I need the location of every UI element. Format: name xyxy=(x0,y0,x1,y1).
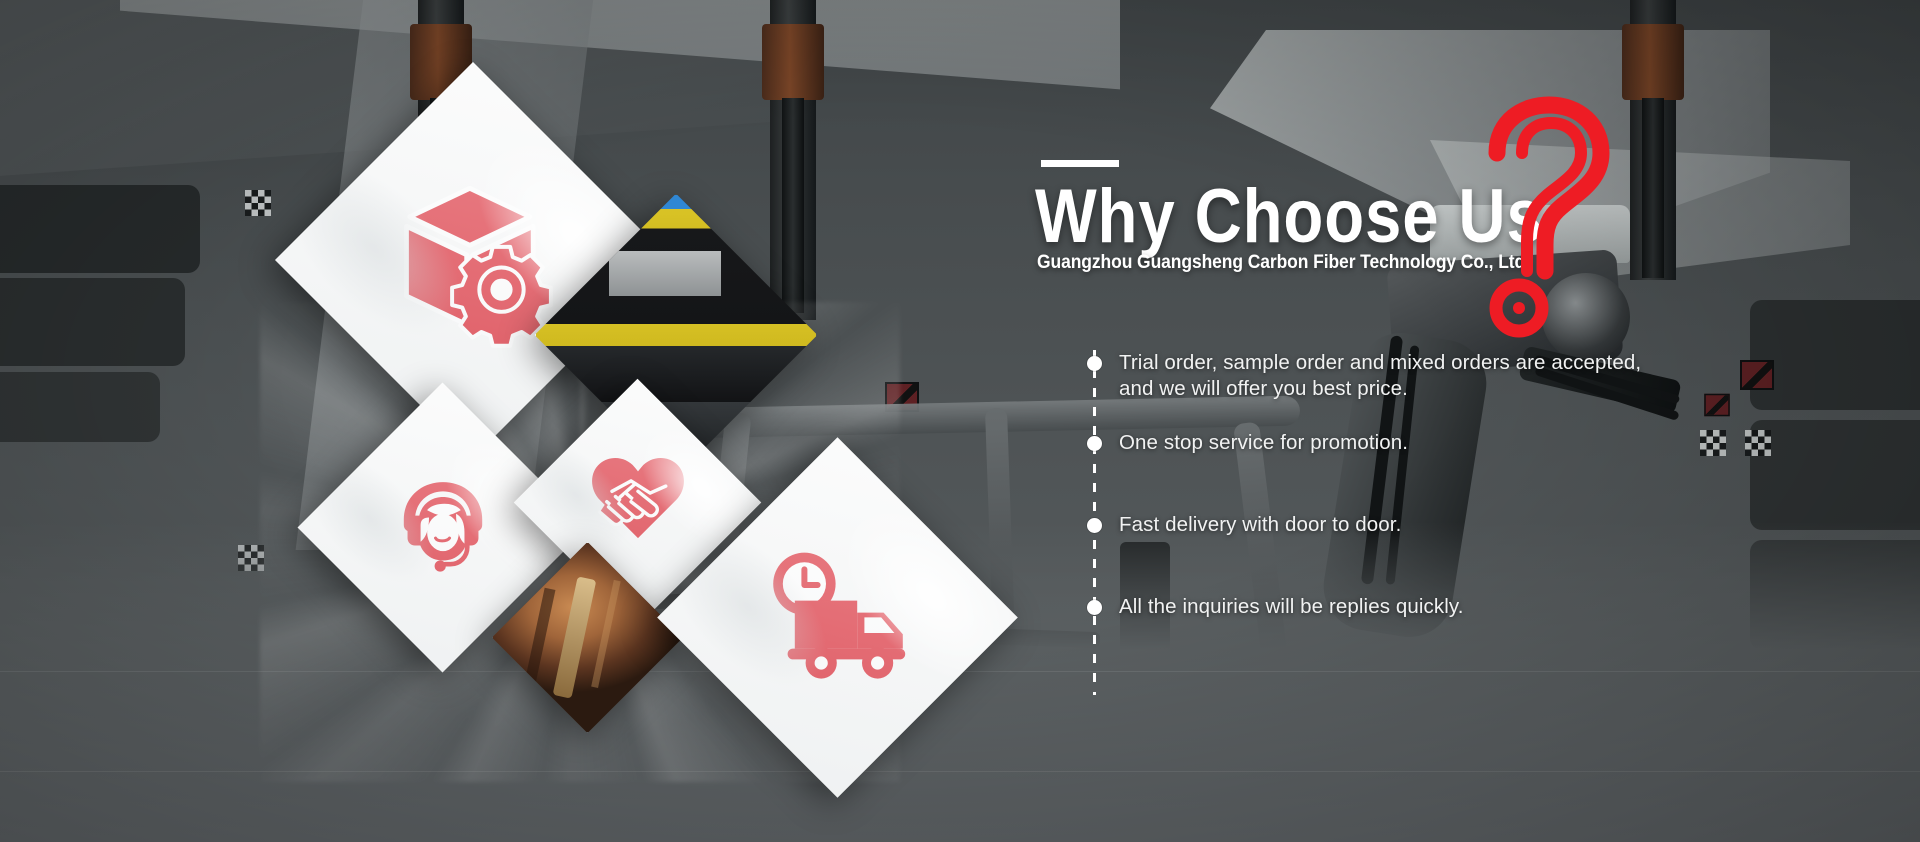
diamond-content xyxy=(710,490,965,745)
bullet-dot-icon xyxy=(1087,518,1102,533)
customer-service-icon xyxy=(387,469,499,586)
diamond-content xyxy=(576,235,776,435)
bullet-dot-icon xyxy=(1087,436,1102,451)
page-title: Why Choose Us xyxy=(1035,178,1544,256)
list-item-text: Fast delivery with door to door. xyxy=(1119,512,1401,538)
list-item: All the inquiries will be replies quickl… xyxy=(1063,594,1663,620)
why-choose-us-banner: Why Choose Us Guangzhou Guangsheng Carbo… xyxy=(0,0,1920,842)
feature-diamond-cluster xyxy=(0,0,1060,842)
list-item: Trial order, sample order and mixed orde… xyxy=(1063,350,1663,402)
list-item-text: All the inquiries will be replies quickl… xyxy=(1119,594,1464,620)
diamond-content xyxy=(340,425,545,630)
delivery-truck-clock-icon xyxy=(754,541,922,694)
bullet-dot-icon xyxy=(1087,356,1102,371)
bullet-dot-icon xyxy=(1087,600,1102,615)
company-subtitle: Guangzhou Guangsheng Carbon Fiber Techno… xyxy=(1037,252,1530,274)
list-item: Fast delivery with door to door. xyxy=(1063,512,1663,538)
diamond-content xyxy=(520,570,655,705)
handshake-heart-icon xyxy=(586,448,690,557)
list-item-text: One stop service for promotion. xyxy=(1119,430,1408,456)
benefits-list: Trial order, sample order and mixed orde… xyxy=(1063,350,1663,695)
content-column: Why Choose Us Guangzhou Guangsheng Carbo… xyxy=(1035,0,1735,842)
title-rule xyxy=(1041,160,1119,167)
list-item: One stop service for promotion. xyxy=(1063,430,1663,456)
list-item-text: Trial order, sample order and mixed orde… xyxy=(1119,350,1663,402)
